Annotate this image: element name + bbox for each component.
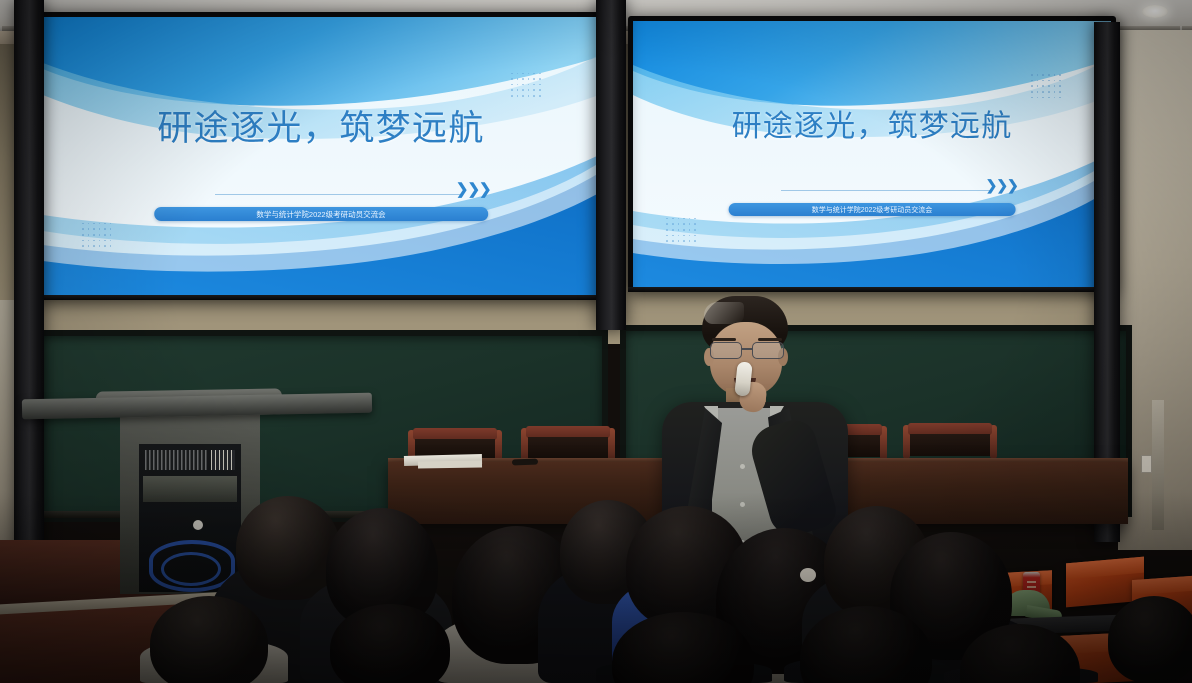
attendee-head [150, 596, 268, 683]
rack-shelf [143, 476, 237, 502]
pillar-center [596, 0, 626, 330]
rack-knob [193, 520, 203, 530]
slide-subtitle-left: 数学与统计学院2022级考研动员交流会 [154, 207, 488, 221]
attendee-head [236, 496, 340, 600]
wall-trim-right [1152, 400, 1164, 530]
lecture-hall-photo: 研途逐光，筑梦远航 ❯❯❯ 数学与统计学院2022级考研动员交流会 [0, 0, 1192, 683]
slide-title-right: 研途逐光，筑梦远航 [633, 101, 1111, 145]
screen-right-brand-mark [642, 288, 668, 291]
slide-subtitle-right: 数学与统计学院2022级考研动员交流会 [729, 203, 1016, 216]
network-cable-coil-inner [161, 552, 221, 586]
hair-tie [800, 568, 816, 582]
shirt-button [740, 502, 745, 507]
projection-screen-right[interactable]: 研途逐光，筑梦远航 ❯❯❯ 数学与统计学院2022级考研动员交流会 [628, 16, 1116, 292]
slide-left-waves [43, 17, 599, 295]
table-microphone [512, 459, 538, 466]
slide-right: 研途逐光，筑梦远航 ❯❯❯ 数学与统计学院2022级考研动员交流会 [633, 21, 1111, 287]
screen-right-display: 研途逐光，筑梦远航 ❯❯❯ 数学与统计学院2022级考研动员交流会 [633, 21, 1111, 287]
projection-screen-left[interactable]: 研途逐光，筑梦远航 ❯❯❯ 数学与统计学院2022级考研动员交流会 [38, 12, 604, 300]
rack-led-strip [211, 450, 235, 470]
lectern-equipment-rack [139, 444, 241, 592]
light-switch-plate[interactable] [1141, 455, 1152, 473]
pillar-left [14, 0, 44, 625]
slide-right-waves [633, 21, 1111, 287]
slide-title-left: 研途逐光，筑梦远航 [43, 100, 599, 151]
slide-divider-left [215, 194, 460, 195]
dot-grid-bottom-left [666, 218, 696, 242]
dot-grid-top-right [1031, 74, 1061, 98]
rack-vent [145, 450, 207, 470]
paper-document [418, 460, 482, 468]
screen-left-brand-mark [52, 296, 78, 299]
chevron-right-icon: ❯❯❯ [986, 177, 1018, 194]
attendee-head [1108, 596, 1192, 683]
screen-left-display: 研途逐光，筑梦远航 ❯❯❯ 数学与统计学院2022级考研动员交流会 [43, 17, 599, 295]
slide-left: 研途逐光，筑梦远航 ❯❯❯ 数学与统计学院2022级考研动员交流会 [43, 17, 599, 295]
speaker-hair-highlight [704, 302, 744, 324]
shirt-button [740, 464, 745, 469]
chevron-right-icon: ❯❯❯ [456, 180, 491, 198]
dot-grid-top-right [511, 73, 541, 97]
chair[interactable] [900, 423, 1000, 463]
speaker-eyebrow-left [712, 338, 736, 341]
speaker-eyebrow-right [758, 338, 782, 341]
eyeglasses-icon [708, 342, 786, 358]
dot-grid-bottom-left [82, 223, 112, 247]
slide-divider-right [781, 190, 991, 191]
ceiling-light-icon [1142, 5, 1168, 18]
